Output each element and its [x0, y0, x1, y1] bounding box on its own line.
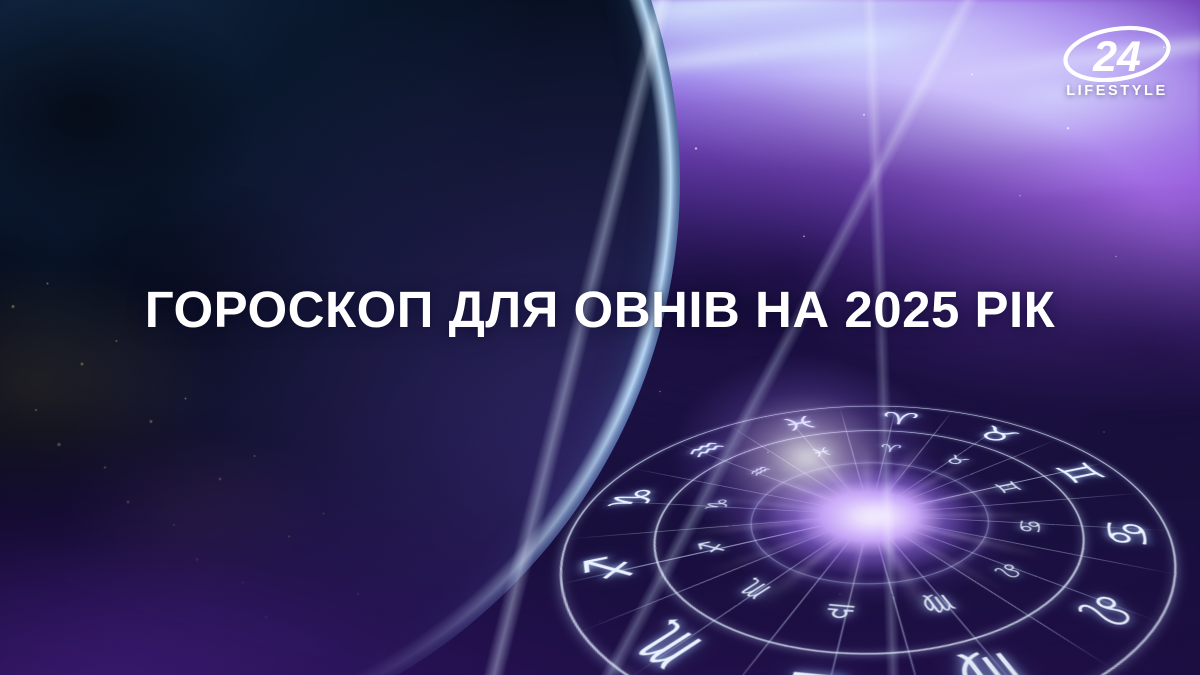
horoscope-banner: ♓♈♉♊♋♌♍♎♏♐♑♒ ♓♈♉♊♋♌♍♎♏♐♑♒ ГОРОСКОП ДЛЯ О… — [0, 0, 1200, 675]
brand-logo[interactable]: 24 LIFESTYLE — [1056, 24, 1178, 99]
logo-24-text: 24 — [1092, 33, 1141, 81]
logo-subtitle: LIFESTYLE — [1056, 83, 1178, 99]
logo-24-mark: 24 — [1056, 24, 1178, 82]
page-title: ГОРОСКОП ДЛЯ ОВНІВ НА 2025 РІК — [0, 283, 1200, 337]
